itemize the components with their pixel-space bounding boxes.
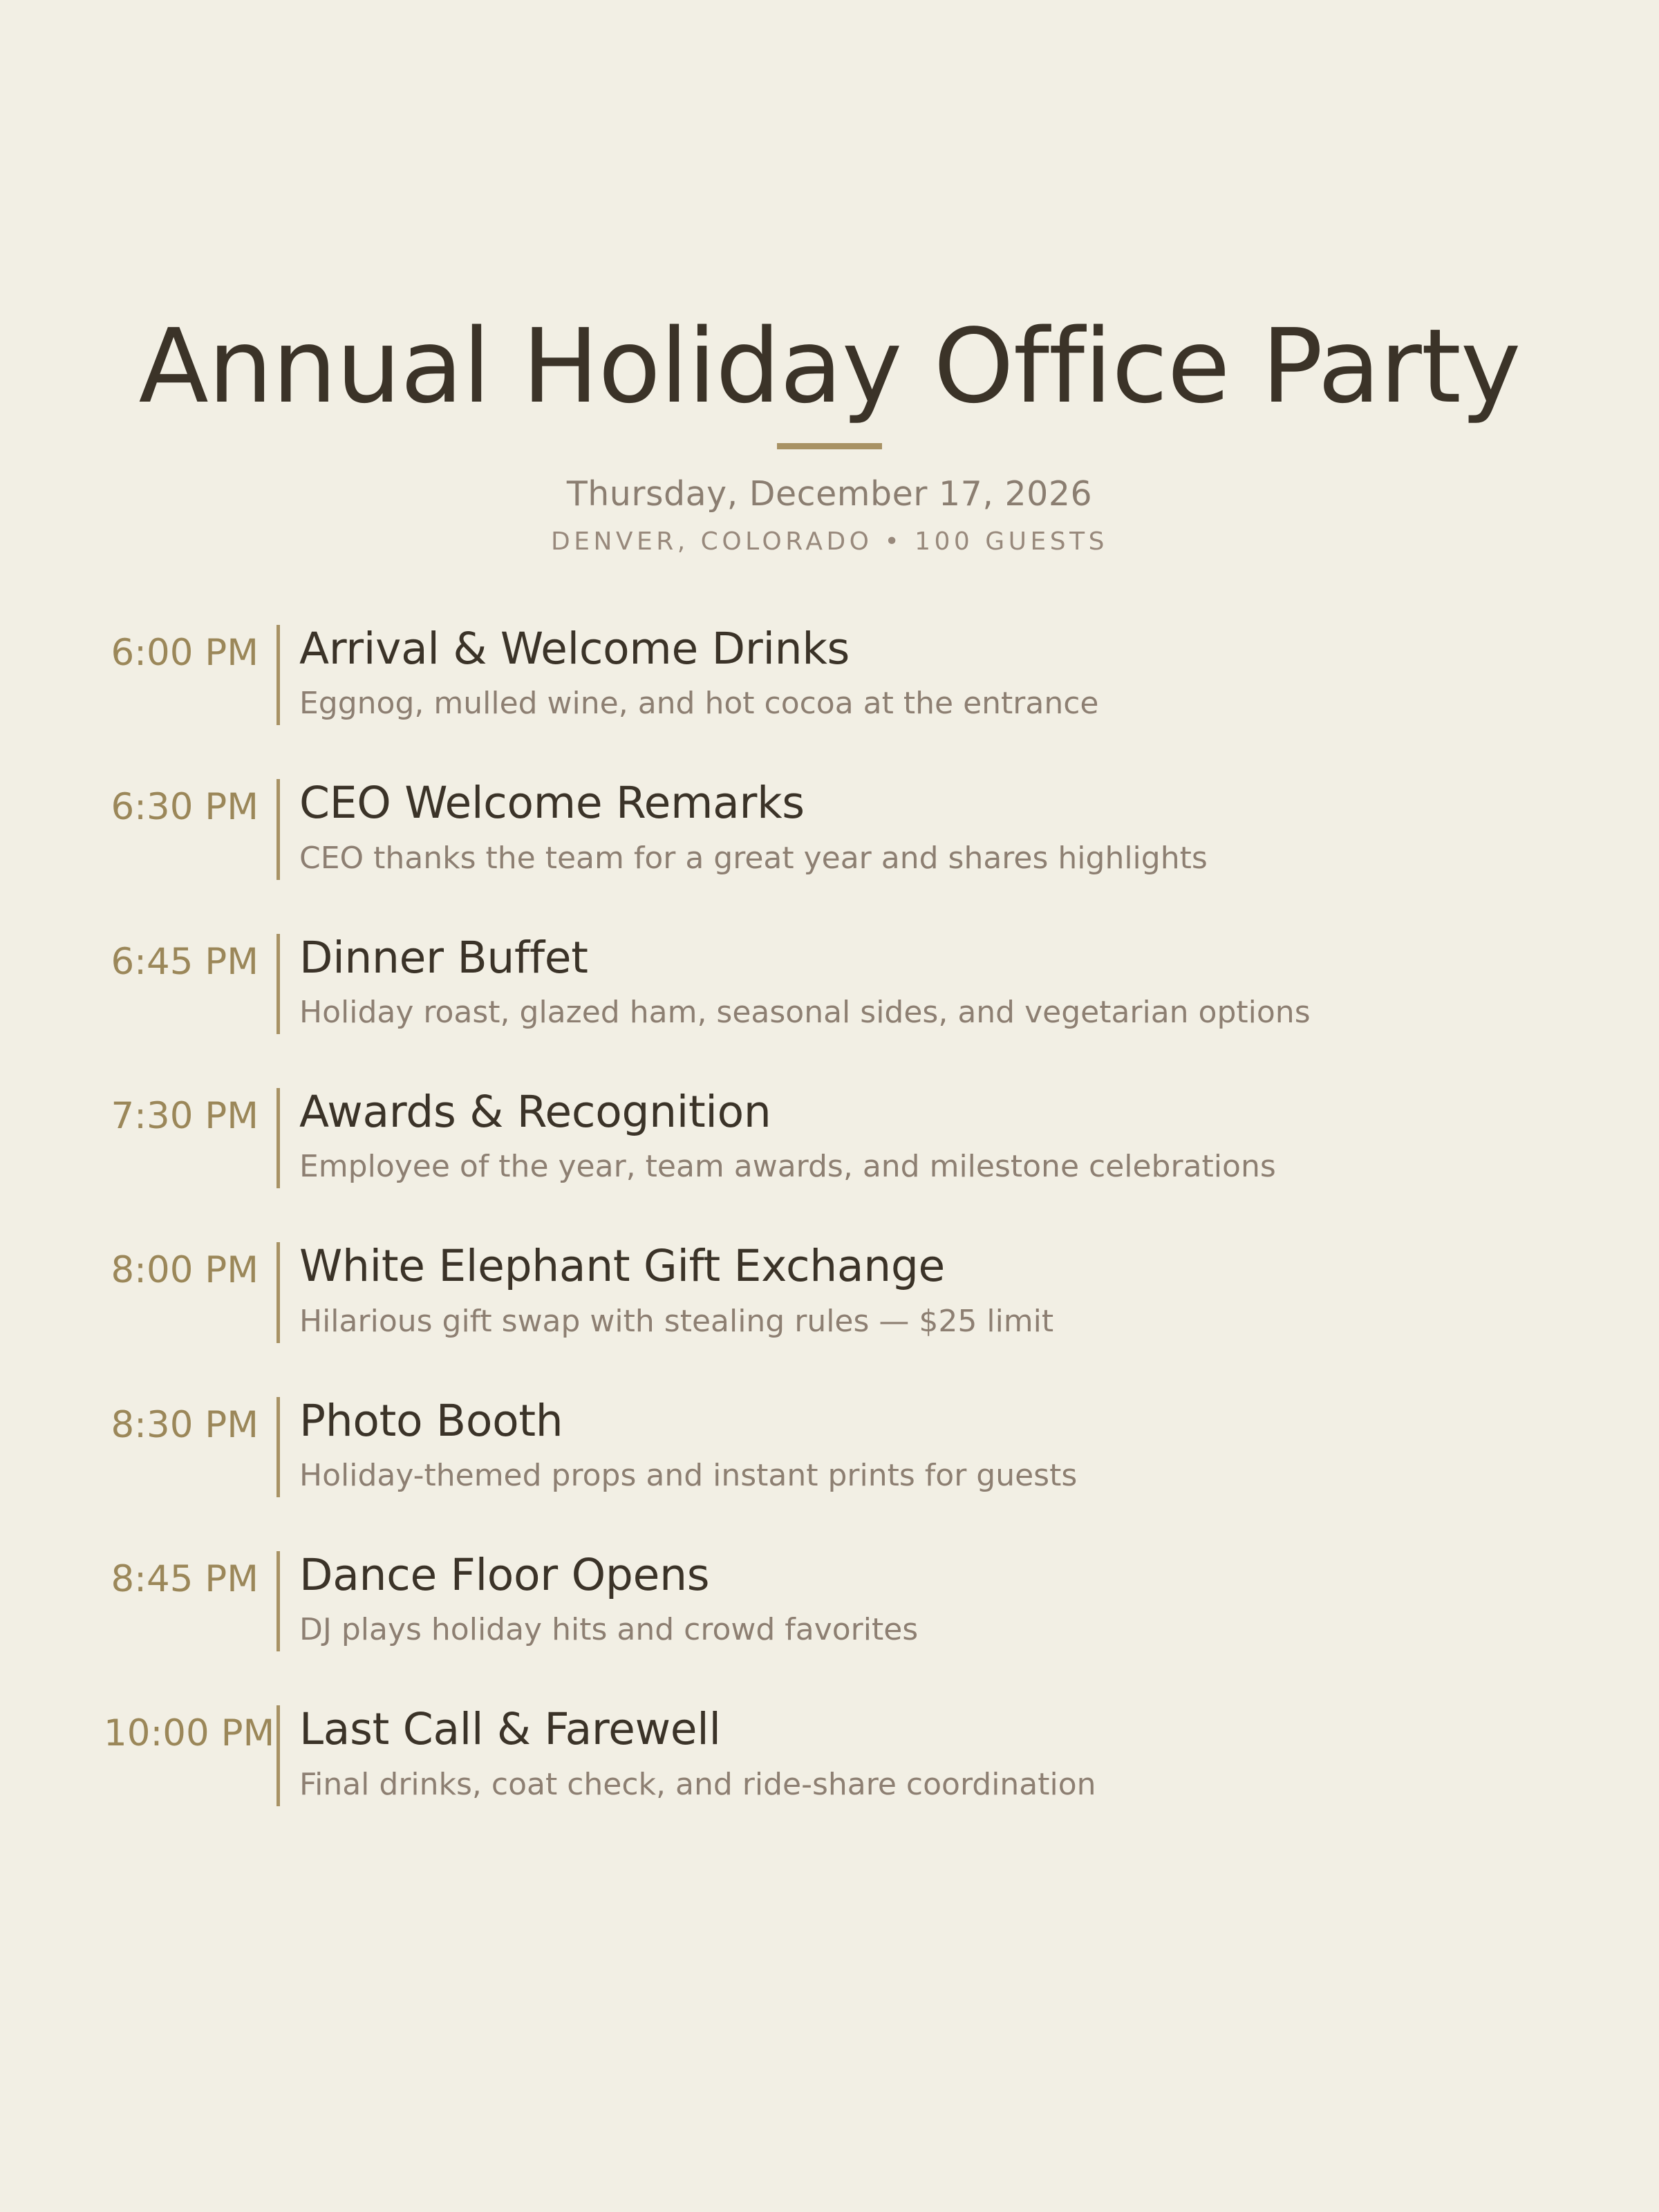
schedule-row-title: White Elephant Gift Exchange [299, 1242, 1555, 1291]
schedule-row-body: White Elephant Gift Exchange Hilarious g… [280, 1242, 1555, 1342]
schedule-row: 8:45 PM Dance Floor Opens DJ plays holid… [104, 1551, 1555, 1651]
schedule-row-description: Employee of the year, team awards, and m… [299, 1149, 1555, 1185]
schedule-row-title: CEO Welcome Remarks [299, 779, 1555, 828]
schedule-row-title: Photo Booth [299, 1397, 1555, 1446]
schedule-row-title: Dance Floor Opens [299, 1551, 1555, 1600]
schedule-row-body: Photo Booth Holiday-themed props and ins… [280, 1397, 1555, 1497]
schedule-row-time: 6:00 PM [104, 625, 276, 725]
schedule-row: 8:30 PM Photo Booth Holiday-themed props… [104, 1397, 1555, 1497]
schedule-row-title: Last Call & Farewell [299, 1705, 1555, 1754]
event-date: Thursday, December 17, 2026 [0, 474, 1659, 514]
schedule-row-body: CEO Welcome Remarks CEO thanks the team … [280, 779, 1555, 879]
page-title: Annual Holiday Office Party [0, 312, 1659, 421]
schedule-row-description: Eggnog, mulled wine, and hot cocoa at th… [299, 686, 1555, 722]
schedule-row-title: Arrival & Welcome Drinks [299, 625, 1555, 674]
schedule-row-time: 6:45 PM [104, 934, 276, 1034]
schedule-row-description: CEO thanks the team for a great year and… [299, 841, 1555, 877]
schedule-row-description: Holiday roast, glazed ham, seasonal side… [299, 995, 1555, 1031]
schedule-row-description: DJ plays holiday hits and crowd favorite… [299, 1612, 1555, 1649]
schedule-row-time: 10:00 PM [104, 1705, 276, 1806]
schedule-row-time: 7:30 PM [104, 1088, 276, 1188]
event-location-and-guests: DENVER, COLORADO • 100 GUESTS [0, 527, 1659, 556]
schedule-row: 6:00 PM Arrival & Welcome Drinks Eggnog,… [104, 625, 1555, 725]
schedule-row-description: Holiday-themed props and instant prints … [299, 1458, 1555, 1494]
schedule-row-body: Dance Floor Opens DJ plays holiday hits … [280, 1551, 1555, 1651]
schedule-row-time: 8:00 PM [104, 1242, 276, 1342]
schedule-row-body: Awards & Recognition Employee of the yea… [280, 1088, 1555, 1188]
title-divider [777, 443, 882, 449]
event-schedule-poster: Annual Holiday Office Party Thursday, De… [0, 0, 1659, 2212]
schedule-row-time: 8:45 PM [104, 1551, 276, 1651]
schedule-row-description: Hilarious gift swap with stealing rules … [299, 1304, 1555, 1340]
schedule-row: 10:00 PM Last Call & Farewell Final drin… [104, 1705, 1555, 1806]
schedule-row-time: 6:30 PM [104, 779, 276, 879]
schedule-row-title: Awards & Recognition [299, 1088, 1555, 1137]
schedule-row-body: Dinner Buffet Holiday roast, glazed ham,… [280, 934, 1555, 1034]
schedule-row: 7:30 PM Awards & Recognition Employee of… [104, 1088, 1555, 1188]
schedule-row: 8:00 PM White Elephant Gift Exchange Hil… [104, 1242, 1555, 1342]
schedule-row-title: Dinner Buffet [299, 934, 1555, 983]
schedule-row-body: Last Call & Farewell Final drinks, coat … [280, 1705, 1555, 1806]
schedule-row-time: 8:30 PM [104, 1397, 276, 1497]
schedule-row: 6:45 PM Dinner Buffet Holiday roast, gla… [104, 934, 1555, 1034]
schedule-row-body: Arrival & Welcome Drinks Eggnog, mulled … [280, 625, 1555, 725]
schedule-row: 6:30 PM CEO Welcome Remarks CEO thanks t… [104, 779, 1555, 879]
schedule-timeline: 6:00 PM Arrival & Welcome Drinks Eggnog,… [0, 625, 1659, 1806]
poster-header: Annual Holiday Office Party Thursday, De… [0, 0, 1659, 556]
schedule-row-description: Final drinks, coat check, and ride-share… [299, 1767, 1555, 1803]
